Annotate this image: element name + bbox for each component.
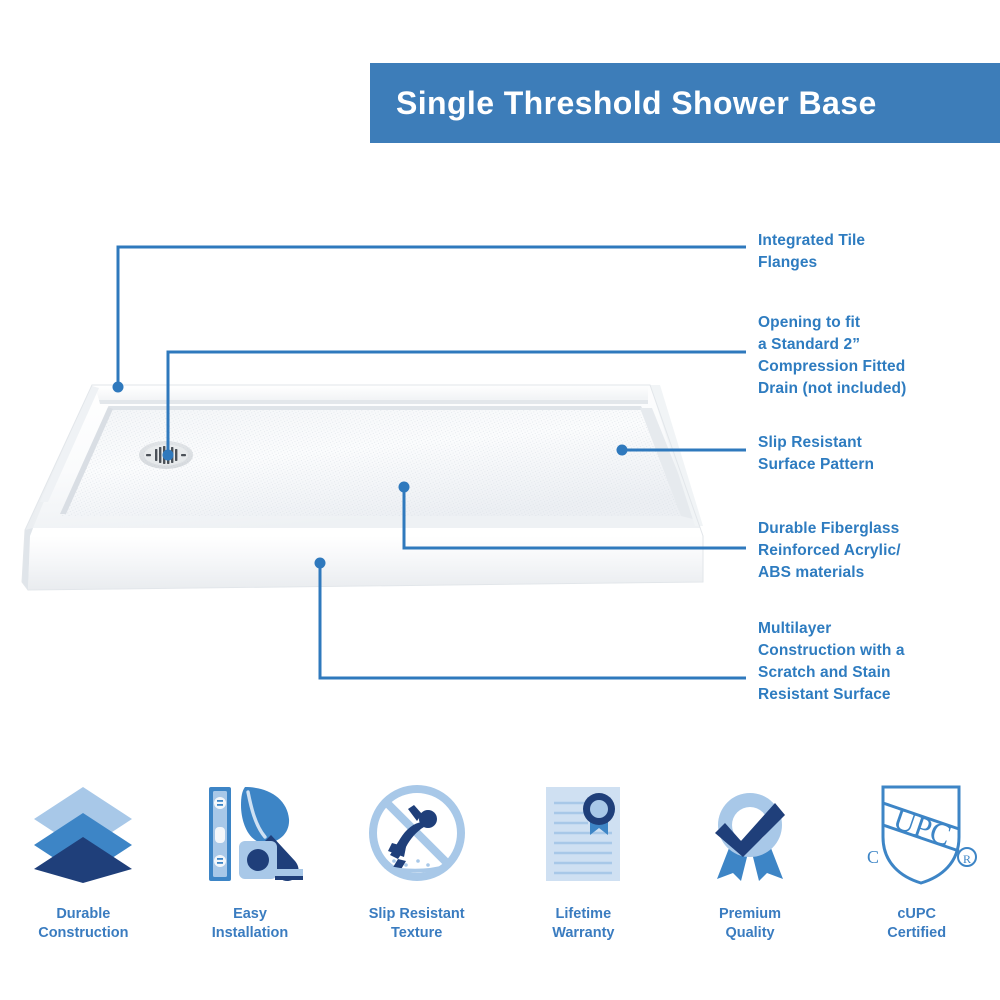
leader-dot-materials	[399, 482, 410, 493]
feature-cupc-certified: UPC C R cUPC Certified	[833, 775, 1000, 975]
svg-text:UPC: UPC	[889, 803, 955, 853]
no-slip-icon	[362, 775, 472, 895]
svg-text:C: C	[867, 847, 879, 867]
layers-icon	[28, 775, 138, 895]
feature-label: Slip Resistant Texture	[369, 905, 465, 943]
award-ribbon-icon	[695, 775, 805, 895]
feature-premium-quality: Premium Quality	[667, 775, 834, 975]
callout-integrated-tile-flanges: Integrated Tile Flanges	[758, 230, 865, 274]
upc-shield-icon: UPC C R	[857, 775, 977, 895]
leader-dot-surface	[617, 445, 628, 456]
leader-line-materials	[404, 487, 746, 548]
feature-label: Lifetime Warranty	[552, 905, 614, 943]
feature-lifetime-warranty: Lifetime Warranty	[500, 775, 667, 975]
leader-line-drain	[168, 352, 746, 455]
feature-label: Premium Quality	[719, 905, 781, 943]
feature-slip-resistant-texture: Slip Resistant Texture	[333, 775, 500, 975]
leader-line-flanges	[118, 247, 746, 387]
feature-strip: Durable Construction	[0, 775, 1000, 975]
callout-multilayer-construction: Multilayer Construction with a Scratch a…	[758, 618, 905, 706]
leader-dot-drain	[163, 450, 174, 461]
leader-line-multilayer	[320, 563, 746, 678]
svg-text:R: R	[963, 852, 971, 866]
certificate-icon	[528, 775, 638, 895]
leader-dot-flanges	[113, 382, 124, 393]
trowel-level-icon	[195, 775, 305, 895]
feature-durable-construction: Durable Construction	[0, 775, 167, 975]
feature-easy-installation: Easy Installation	[167, 775, 334, 975]
callout-slip-resistant-surface: Slip Resistant Surface Pattern	[758, 432, 874, 476]
callout-drain-opening: Opening to fit a Standard 2” Compression…	[758, 312, 906, 400]
feature-label: Durable Construction	[38, 905, 128, 943]
callout-durable-materials: Durable Fiberglass Reinforced Acrylic/ A…	[758, 518, 901, 584]
leader-dot-multilayer	[315, 558, 326, 569]
feature-label: cUPC Certified	[887, 905, 946, 943]
infographic-canvas: Single Threshold Shower Base	[0, 0, 1000, 1000]
feature-label: Easy Installation	[212, 905, 289, 943]
